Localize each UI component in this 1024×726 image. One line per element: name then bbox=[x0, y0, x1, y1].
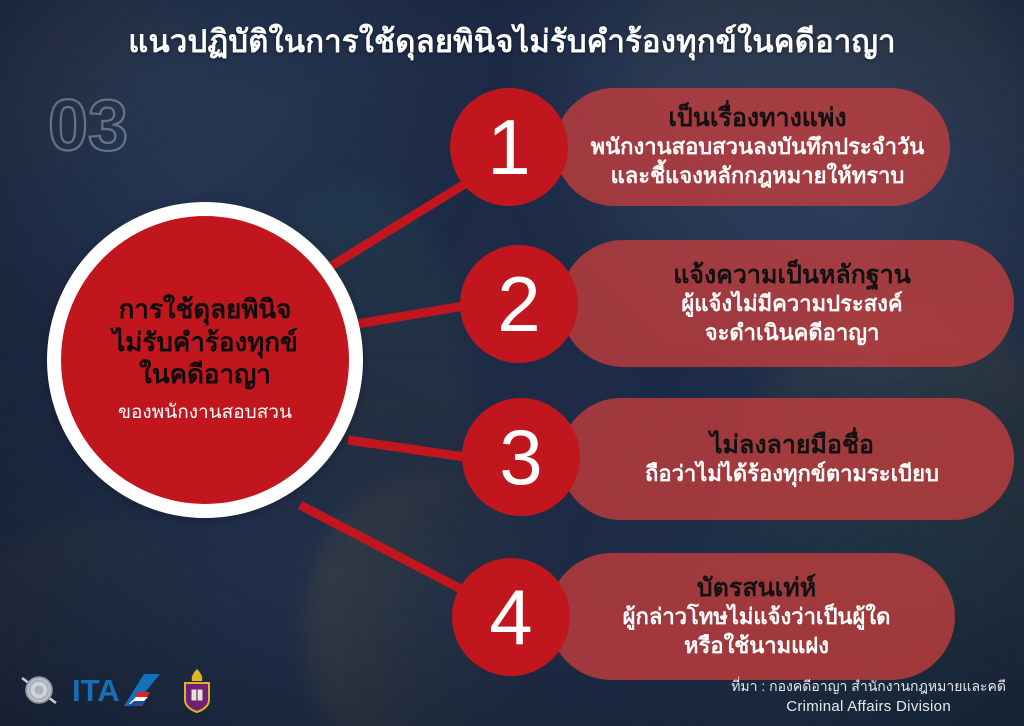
item-1-number: 1 bbox=[487, 108, 530, 186]
ita-logo-text: ITA bbox=[72, 673, 120, 708]
item-4-number: 4 bbox=[489, 578, 532, 656]
item-2-number-badge[interactable]: 2 bbox=[460, 245, 578, 363]
item-2-number: 2 bbox=[497, 265, 540, 343]
royal-thai-police-emblem-icon bbox=[178, 667, 216, 713]
item-2-pill[interactable]: แจ้งความเป็นหลักฐาน ผู้แจ้งไม่มีความประส… bbox=[560, 240, 1014, 367]
royal-thai-police-seal-icon bbox=[16, 667, 62, 713]
item-1-number-badge[interactable]: 1 bbox=[450, 88, 568, 206]
item-3-pill[interactable]: ไม่ลงลายมือชื่อ ถือว่าไม่ได้ร้องทุกข์ตาม… bbox=[560, 398, 1014, 520]
source-credit-th: ที่มา : กองคดีอาญา สำนักงานกฎหมายและคดี bbox=[731, 676, 1006, 696]
item-4-number-badge[interactable]: 4 bbox=[452, 558, 570, 676]
center-title-line-3: ในคดีอาญา bbox=[139, 358, 271, 391]
connector-3 bbox=[348, 440, 472, 458]
item-1-pill[interactable]: เป็นเรื่องทางแพ่ง พนักงานสอบสวนลงบันทึกป… bbox=[555, 88, 950, 206]
item-2-body-line-1: ผู้แจ้งไม่มีความประสงค์ bbox=[681, 290, 902, 319]
item-4-body-line-1: ผู้กล่าวโทษไม่แจ้งว่าเป็นผู้ใด bbox=[623, 603, 891, 632]
center-subtitle: ของพนักงานสอบสวน bbox=[118, 397, 292, 427]
infographic-canvas: แนวปฏิบัติในการใช้ดุลยพินิจไม่รับคำร้องท… bbox=[0, 0, 1024, 726]
item-1-body-line-1: พนักงานสอบสวนลงบันทึกประจำวัน bbox=[591, 133, 925, 162]
item-4-pill[interactable]: บัตรสนเท่ห์ ผู้กล่าวโทษไม่แจ้งว่าเป็นผู้… bbox=[548, 553, 955, 680]
source-credit: ที่มา : กองคดีอาญา สำนักงานกฎหมายและคดี … bbox=[731, 676, 1006, 718]
ita-logo-icon: ITA bbox=[72, 670, 168, 710]
center-node-disc: การใช้ดุลยพินิจ ไม่รับคำร้องทุกข์ ในคดีอ… bbox=[61, 216, 349, 504]
item-1-title: เป็นเรื่องทางแพ่ง bbox=[668, 103, 846, 133]
item-3-number: 3 bbox=[499, 418, 542, 496]
center-title-line-1: การใช้ดุลยพินิจ bbox=[119, 293, 292, 326]
center-node: การใช้ดุลยพินิจ ไม่รับคำร้องทุกข์ ในคดีอ… bbox=[47, 202, 363, 518]
item-3-title: ไม่ลงลายมือชื่อ bbox=[710, 430, 874, 460]
connector-4 bbox=[300, 505, 482, 600]
item-2-body-line-2: จะดำเนินคดีอาญา bbox=[705, 319, 880, 348]
source-credit-en: Criminal Affairs Division bbox=[731, 696, 1006, 718]
center-title-line-2: ไม่รับคำร้องทุกข์ bbox=[112, 326, 298, 359]
item-3-number-badge[interactable]: 3 bbox=[462, 398, 580, 516]
item-4-title: บัตรสนเท่ห์ bbox=[697, 573, 816, 603]
item-4-body-line-2: หรือใช้นามแฝง bbox=[684, 632, 829, 661]
item-3-body-line-1: ถือว่าไม่ได้ร้องทุกข์ตามระเบียบ bbox=[645, 460, 939, 489]
connector-2 bbox=[351, 305, 470, 325]
item-2-title: แจ้งความเป็นหลักฐาน bbox=[673, 260, 911, 290]
logo-row: ITA bbox=[16, 666, 216, 714]
item-1-body-line-2: และชี้แจงหลักกฎหมายให้ทราบ bbox=[611, 162, 905, 191]
